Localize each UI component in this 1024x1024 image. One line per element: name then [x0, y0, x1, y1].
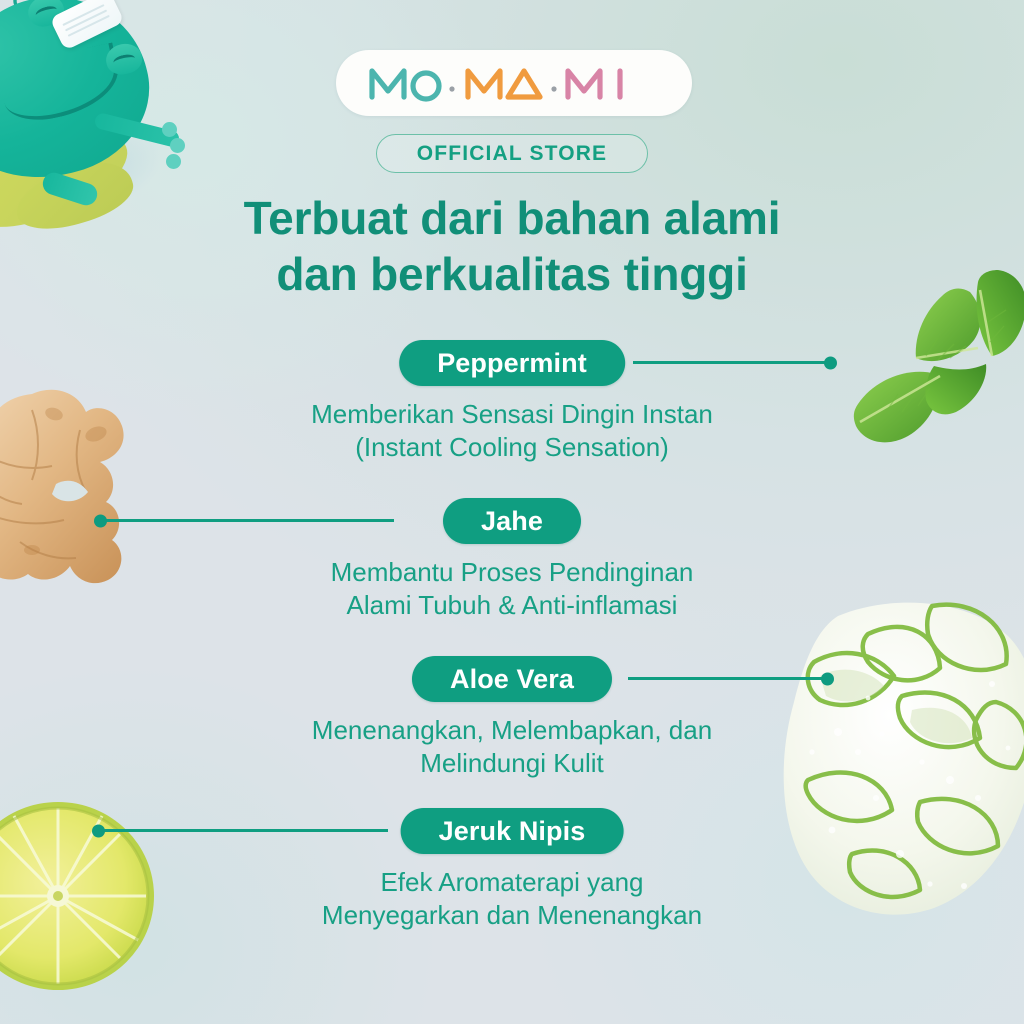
ingredient-name: Aloe Vera	[450, 664, 574, 695]
connector-dot	[821, 672, 834, 685]
frog-finger	[166, 154, 181, 169]
connector-dot	[94, 514, 107, 527]
ingredient-name: Jeruk Nipis	[439, 816, 586, 847]
ingredient-desc-line-2: Menyegarkan dan Menenangkan	[0, 899, 1024, 932]
ingredient-jahe: Jahe Membantu Proses Pendinginan Alami T…	[0, 498, 1024, 623]
connector-dot	[824, 356, 837, 369]
ingredient-aloe-vera: Aloe Vera Menenangkan, Melembapkan, dan …	[0, 656, 1024, 781]
ingredient-jeruk-nipis: Jeruk Nipis Efek Aromaterapi yang Menyeg…	[0, 808, 1024, 933]
brand-logo-plate	[336, 50, 692, 116]
connector-jeruk-nipis	[98, 829, 388, 832]
headline-line-1: Terbuat dari bahan alami	[244, 192, 781, 244]
momami-logo	[364, 59, 664, 107]
connector-aloe-vera	[628, 677, 828, 680]
ingredient-pill-peppermint[interactable]: Peppermint	[399, 340, 625, 386]
connector-peppermint	[633, 361, 831, 364]
ingredient-desc-line-2: Alami Tubuh & Anti-inflamasi	[0, 589, 1024, 622]
ingredient-description: Memberikan Sensasi Dingin Instan (Instan…	[0, 398, 1024, 465]
ingredient-desc-line-1: Membantu Proses Pendinginan	[331, 557, 694, 587]
ingredient-description: Menenangkan, Melembapkan, dan Melindungi…	[0, 714, 1024, 781]
page-title: Terbuat dari bahan alami dan berkualitas…	[0, 190, 1024, 302]
ingredient-desc-line-2: (Instant Cooling Sensation)	[0, 431, 1024, 464]
frog-finger	[162, 122, 177, 137]
ingredient-description: Membantu Proses Pendinginan Alami Tubuh …	[0, 556, 1024, 623]
ingredient-name: Peppermint	[437, 348, 587, 379]
connector-jahe	[100, 519, 394, 522]
ingredient-pill-jahe[interactable]: Jahe	[443, 498, 581, 544]
headline-line-2: dan berkualitas tinggi	[0, 246, 1024, 302]
official-store-label: OFFICIAL STORE	[417, 142, 607, 166]
ingredient-pill-aloe-vera[interactable]: Aloe Vera	[412, 656, 612, 702]
official-store-badge: OFFICIAL STORE	[376, 134, 648, 173]
ingredient-name: Jahe	[481, 506, 543, 537]
frog-finger	[170, 138, 185, 153]
ingredient-desc-line-2: Melindungi Kulit	[0, 747, 1024, 780]
ingredient-desc-line-1: Menenangkan, Melembapkan, dan	[312, 715, 712, 745]
connector-dot	[92, 824, 105, 837]
ingredient-pill-jeruk-nipis[interactable]: Jeruk Nipis	[401, 808, 624, 854]
ingredient-peppermint: Peppermint Memberikan Sensasi Dingin Ins…	[0, 340, 1024, 465]
ingredient-description: Efek Aromaterapi yang Menyegarkan dan Me…	[0, 866, 1024, 933]
product-ingredient-poster: OFFICIAL STORE Terbuat dari bahan alami …	[0, 0, 1024, 1024]
ingredient-desc-line-1: Efek Aromaterapi yang	[380, 867, 643, 897]
ingredient-desc-line-1: Memberikan Sensasi Dingin Instan	[311, 399, 713, 429]
